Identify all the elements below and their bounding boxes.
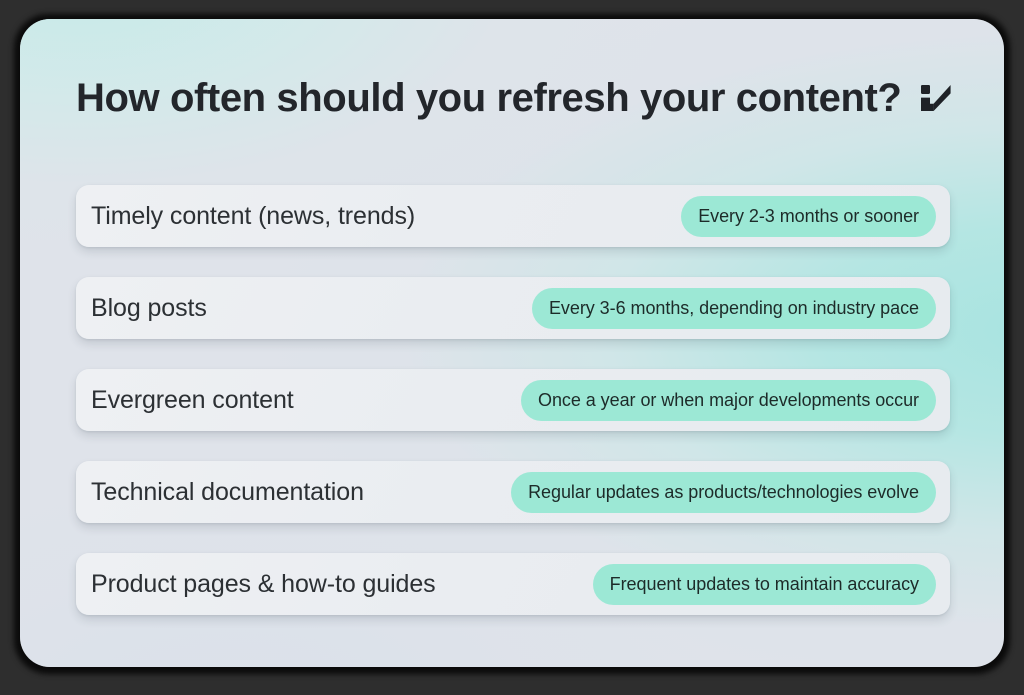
status-badge: Frequent updates to maintain accuracy (593, 564, 936, 605)
row-label: Evergreen content (91, 386, 294, 415)
status-badge: Regular updates as products/technologies… (511, 472, 936, 513)
panel-header: How often should you refresh your conten… (76, 67, 959, 129)
list-item[interactable]: Evergreen content Once a year or when ma… (76, 369, 950, 431)
list-item[interactable]: Product pages & how-to guides Frequent u… (76, 553, 950, 615)
row-label: Product pages & how-to guides (91, 570, 436, 599)
page-title: How often should you refresh your conten… (76, 76, 901, 120)
content-panel: How often should you refresh your conten… (20, 19, 1004, 667)
row-label: Blog posts (91, 294, 207, 323)
list-item[interactable]: Timely content (news, trends) Every 2-3 … (76, 185, 950, 247)
status-badge: Every 2-3 months or sooner (681, 196, 936, 237)
list-item[interactable]: Technical documentation Regular updates … (76, 461, 950, 523)
status-badge: Every 3-6 months, depending on industry … (532, 288, 936, 329)
content-refresh-list: Timely content (news, trends) Every 2-3 … (76, 185, 950, 615)
checkmark-leaf-logo-icon (919, 81, 955, 117)
screenshot-frame: How often should you refresh your conten… (0, 0, 1024, 695)
panel-content: How often should you refresh your conten… (20, 19, 1004, 667)
row-label: Technical documentation (91, 478, 364, 507)
list-item[interactable]: Blog posts Every 3-6 months, depending o… (76, 277, 950, 339)
status-badge: Once a year or when major developments o… (521, 380, 936, 421)
row-label: Timely content (news, trends) (91, 202, 415, 231)
